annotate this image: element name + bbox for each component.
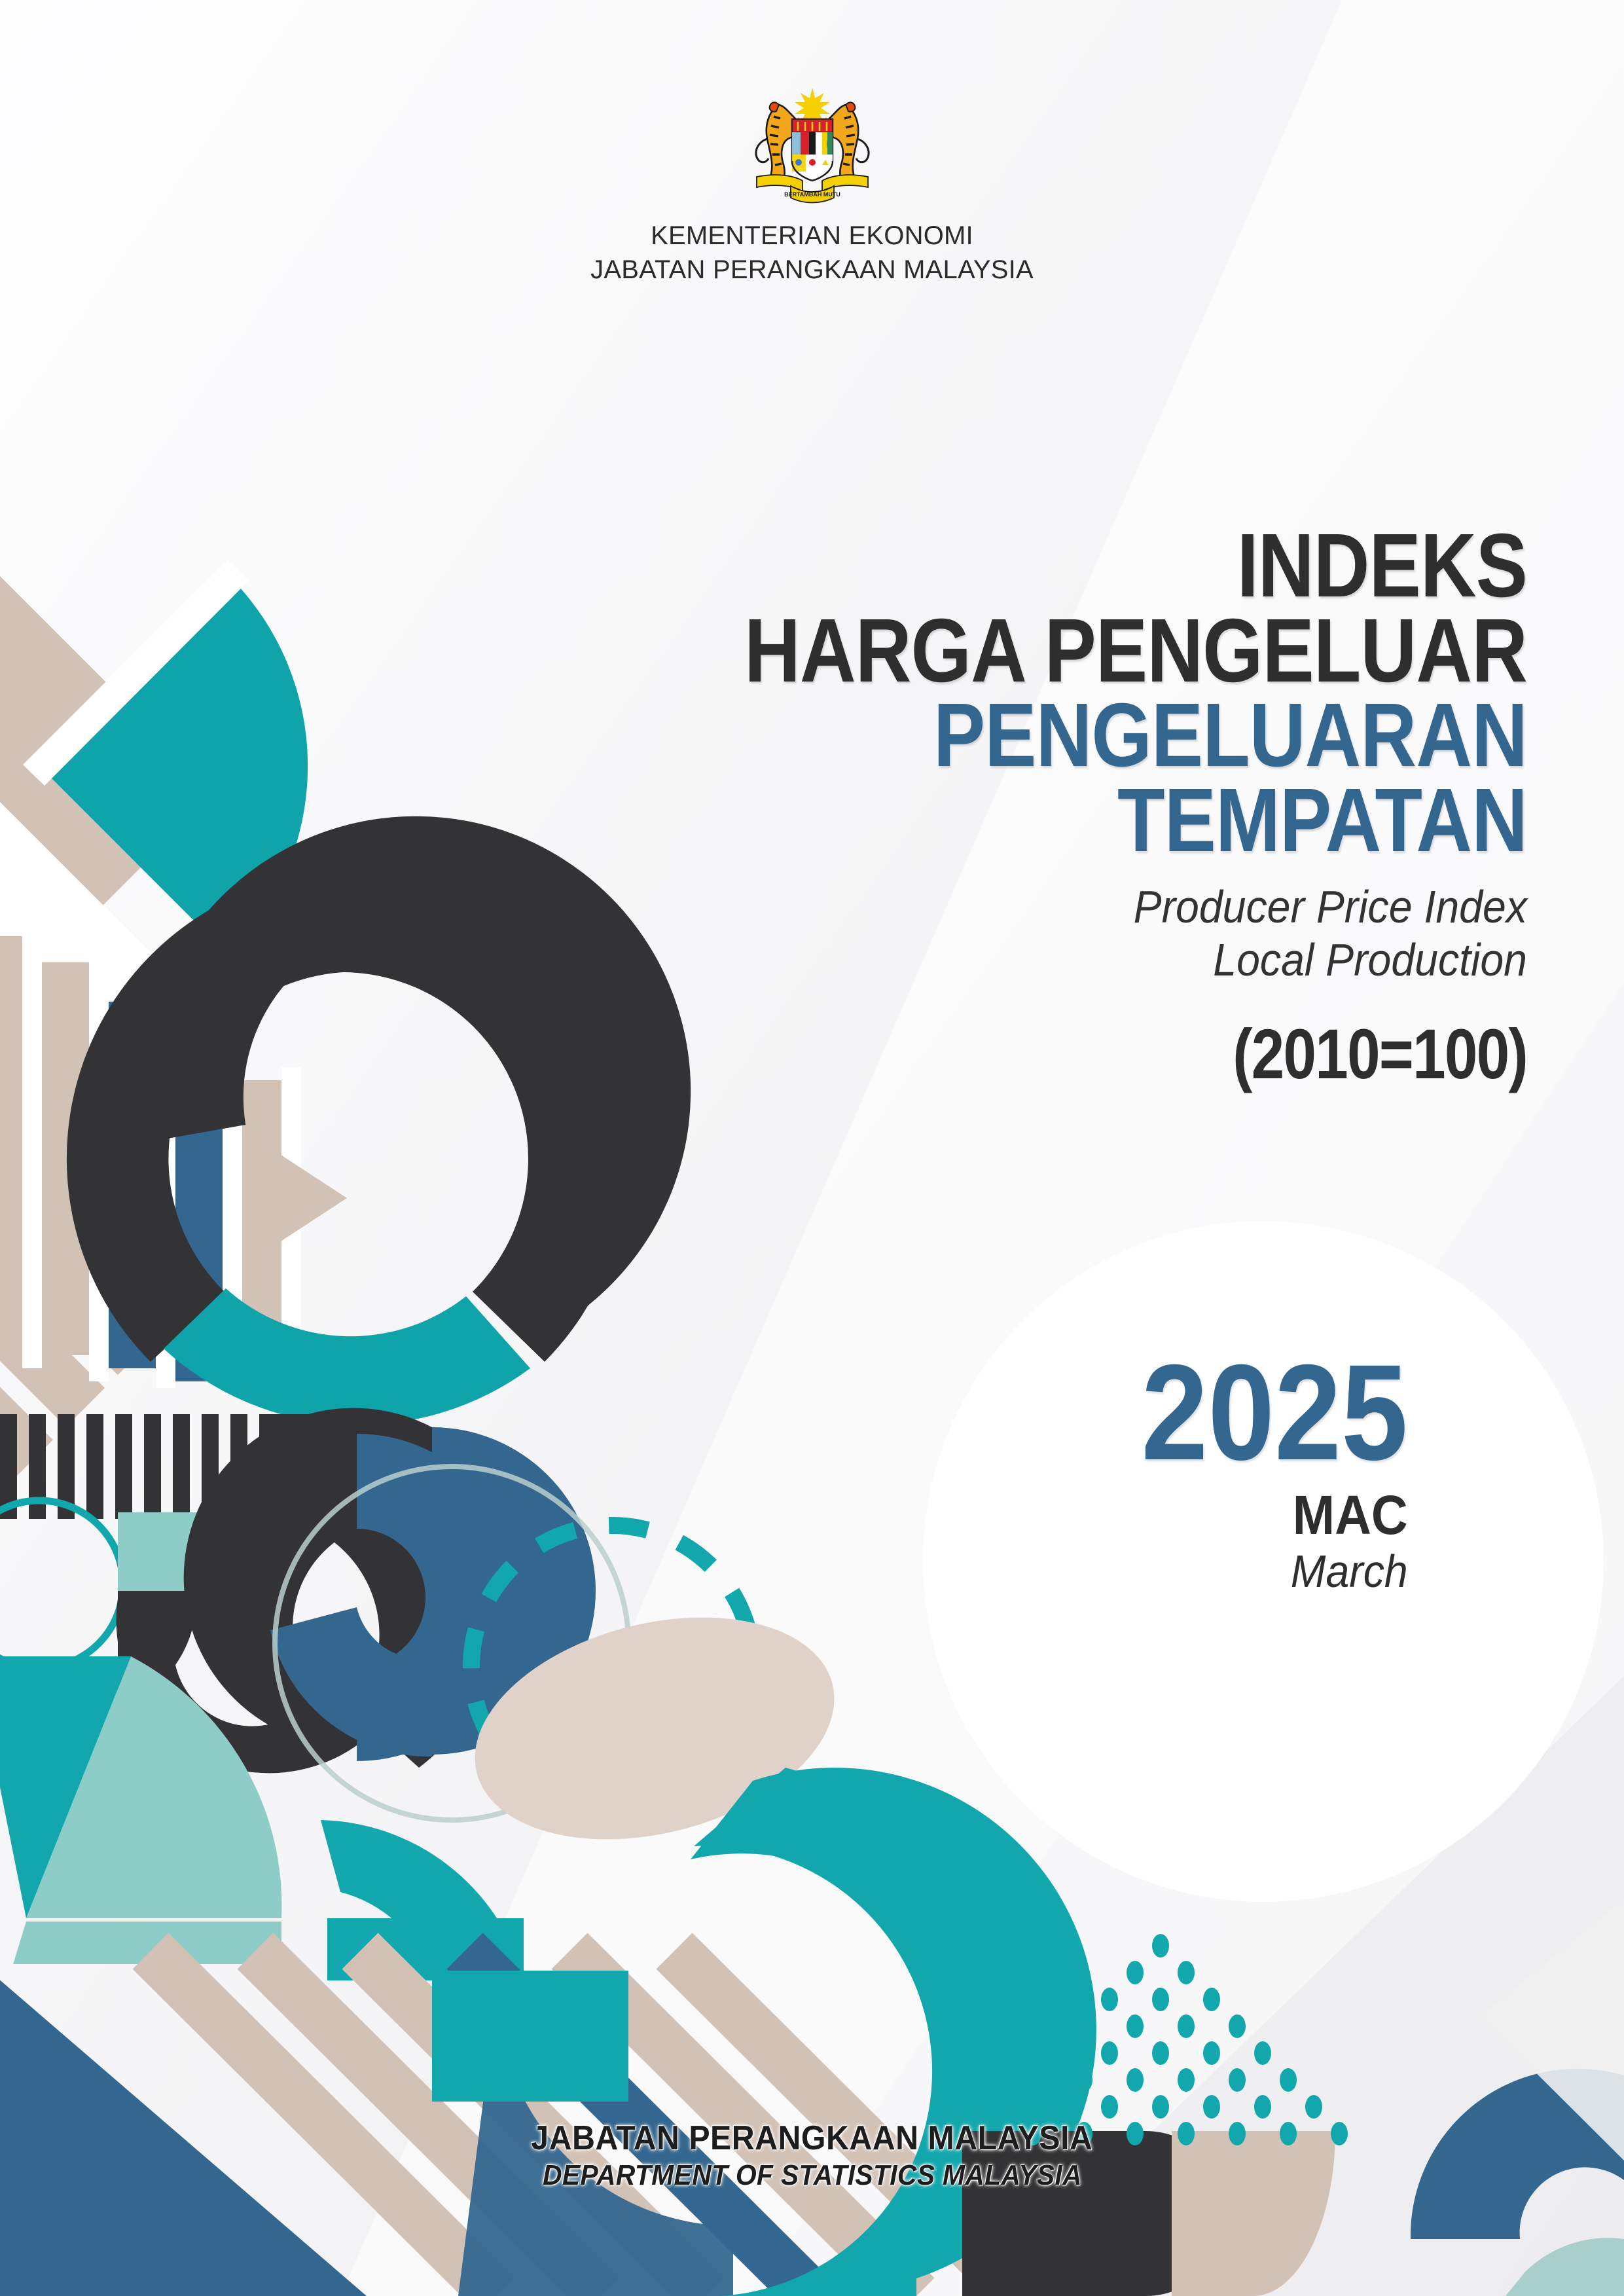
footer-agency-en: DEPARTMENT OF STATISTICS MALAYSIA — [543, 2159, 1082, 2192]
publication-month-en: March — [1129, 1545, 1408, 1597]
subtitle-line-1: Producer Price Index — [624, 881, 1527, 934]
ministry-line-1: KEMENTERIAN EKONOMI — [590, 219, 1034, 253]
decorative-artwork — [0, 0, 1624, 2296]
ministry-line-2: JABATAN PERANGKAAN MALAYSIA — [590, 253, 1034, 287]
title-line-harga: HARGA PENGELUAR — [683, 609, 1527, 694]
publication-month-ms: MAC — [1129, 1487, 1408, 1542]
svg-text:BERTAMBAH MUTU: BERTAMBAH MUTU — [784, 191, 840, 198]
cover-title-block: INDEKS HARGA PENGELUAR PENGELUARAN TEMPA… — [545, 524, 1527, 1095]
title-line-indeks: INDEKS — [683, 524, 1527, 609]
title-line-pengeluaran: PENGELUARAN — [683, 693, 1527, 778]
ministry-names: KEMENTERIAN EKONOMI JABATAN PERANGKAAN M… — [590, 219, 1034, 287]
cover-date-block: 2025 MAC March — [1105, 1349, 1408, 1597]
malaysia-coat-of-arms-icon: BERTAMBAH MUTU — [731, 79, 894, 210]
cover-header: BERTAMBAH MUTU KEMENTERIAN EKONOMI JABAT… — [0, 79, 1624, 287]
report-cover: BERTAMBAH MUTU KEMENTERIAN EKONOMI JABAT… — [0, 0, 1624, 2296]
title-subtitle-english: Producer Price Index Local Production — [624, 881, 1527, 987]
publication-year: 2025 — [1142, 1349, 1408, 1478]
subtitle-line-2: Local Production — [624, 934, 1527, 987]
title-line-tempatan: TEMPATAN — [683, 778, 1527, 864]
footer-agency-ms: JABATAN PERANGKAAN MALAYSIA — [531, 2119, 1092, 2158]
base-year-label: (2010=100) — [702, 1013, 1527, 1095]
cover-footer: JABATAN PERANGKAAN MALAYSIA DEPARTMENT O… — [0, 2119, 1624, 2192]
